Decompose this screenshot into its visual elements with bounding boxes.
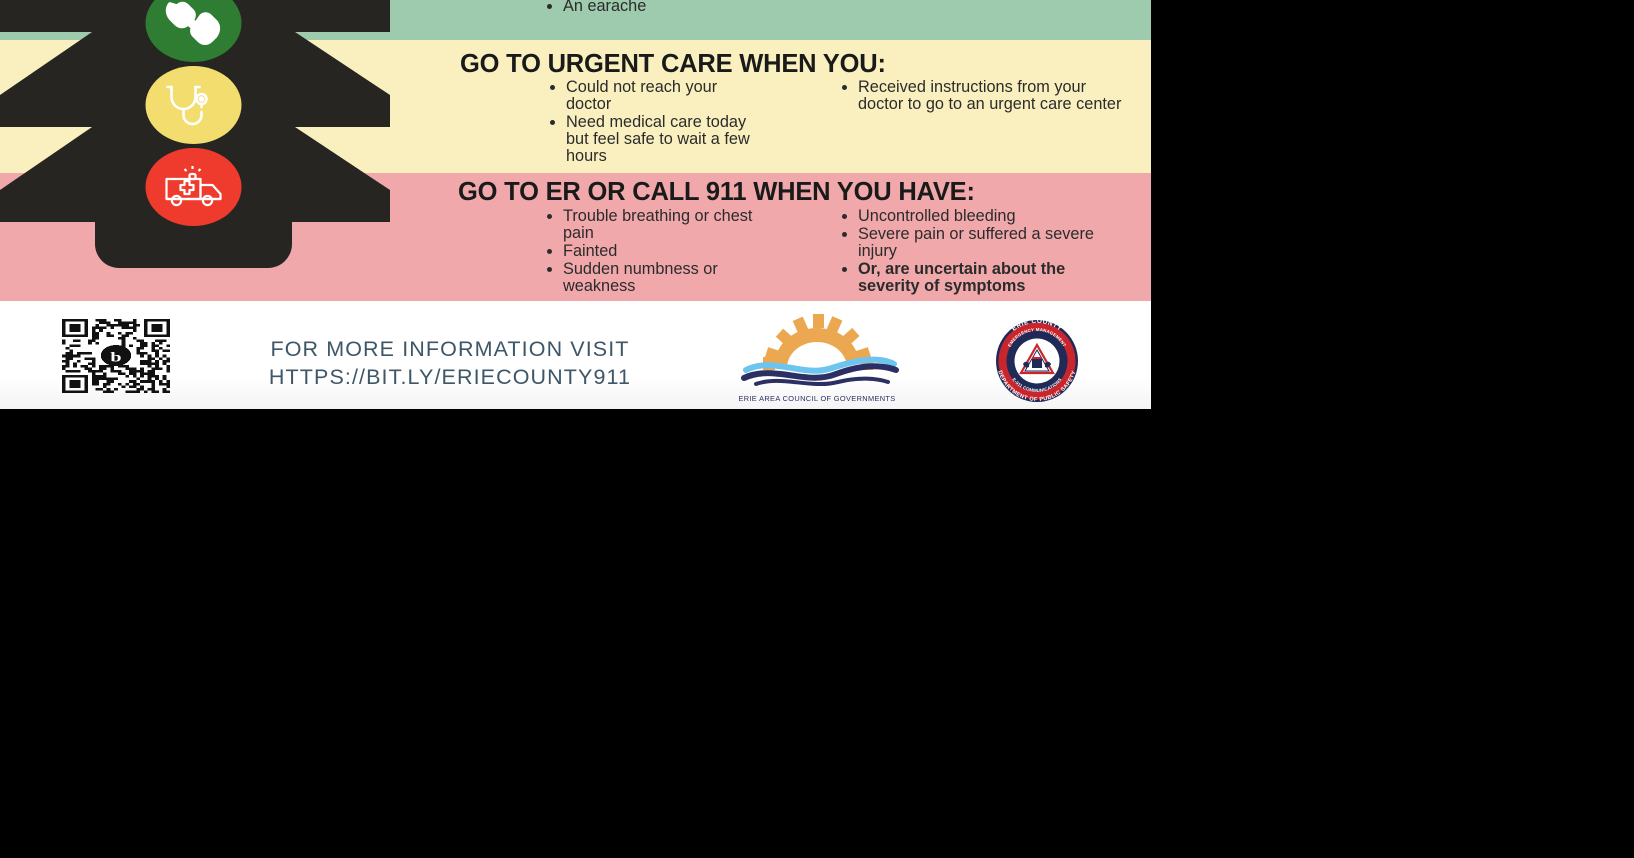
urgent-list-right: Received instructions from your doctor t… — [840, 79, 1123, 114]
list-item: Sudden numbness or weakness — [563, 261, 773, 295]
list-item: Uncontrolled bleeding — [858, 208, 1123, 225]
info-line-2: HTTPS://BIT.LY/ERIECOUNTY911 — [230, 363, 670, 391]
bitly-logo-icon: b — [101, 345, 132, 366]
urgent-list-left: Could not reach your doctor Need medical… — [548, 79, 766, 167]
heading-er-911: GO TO ER OR CALL 911 WHEN YOU HAVE: — [458, 178, 975, 207]
more-information-text: FOR MORE INFORMATION VISIT HTTPS://BIT.L… — [230, 335, 670, 392]
svg-text:b: b — [110, 349, 121, 364]
infographic-poster: A sore throat An earache safe to wait a … — [0, 0, 1151, 409]
list-item: Received instructions from your doctor t… — [858, 79, 1123, 113]
heading-urgent-care: GO TO URGENT CARE WHEN YOU: — [460, 50, 886, 79]
list-item-emphasis: Or, are uncertain about the severity of … — [858, 261, 1123, 295]
screenshot-canvas: A sore throat An earache safe to wait a … — [0, 0, 1634, 858]
list-item: Need medical care today but feel safe to… — [566, 114, 766, 165]
qr-code[interactable]: b — [62, 319, 170, 393]
list-item: Fainted — [563, 243, 773, 260]
qr-code-matrix[interactable]: b — [62, 319, 170, 393]
eacog-logo — [726, 312, 908, 390]
info-line-1: FOR MORE INFORMATION VISIT — [230, 335, 670, 363]
er-list-left: Trouble breathing or chest pain Fainted … — [545, 208, 773, 297]
list-item: An earache — [563, 0, 763, 15]
er-list-right: Uncontrolled bleeding Severe pain or suf… — [840, 208, 1123, 297]
eacog-caption: ERIE AREA COUNCIL OF GOVERNMENTS — [700, 394, 934, 403]
list-item: Could not reach your doctor — [566, 79, 766, 113]
erie-county-seal: ERIE COUNTY DEPARTMENT OF PUBLIC SAFETY … — [985, 311, 1089, 403]
list-item: Severe pain or suffered a severe injury — [858, 226, 1123, 260]
green-list-left: A sore throat An earache — [545, 0, 763, 16]
traffic-light-graphic — [0, 0, 400, 275]
list-item: Trouble breathing or chest pain — [563, 208, 773, 242]
